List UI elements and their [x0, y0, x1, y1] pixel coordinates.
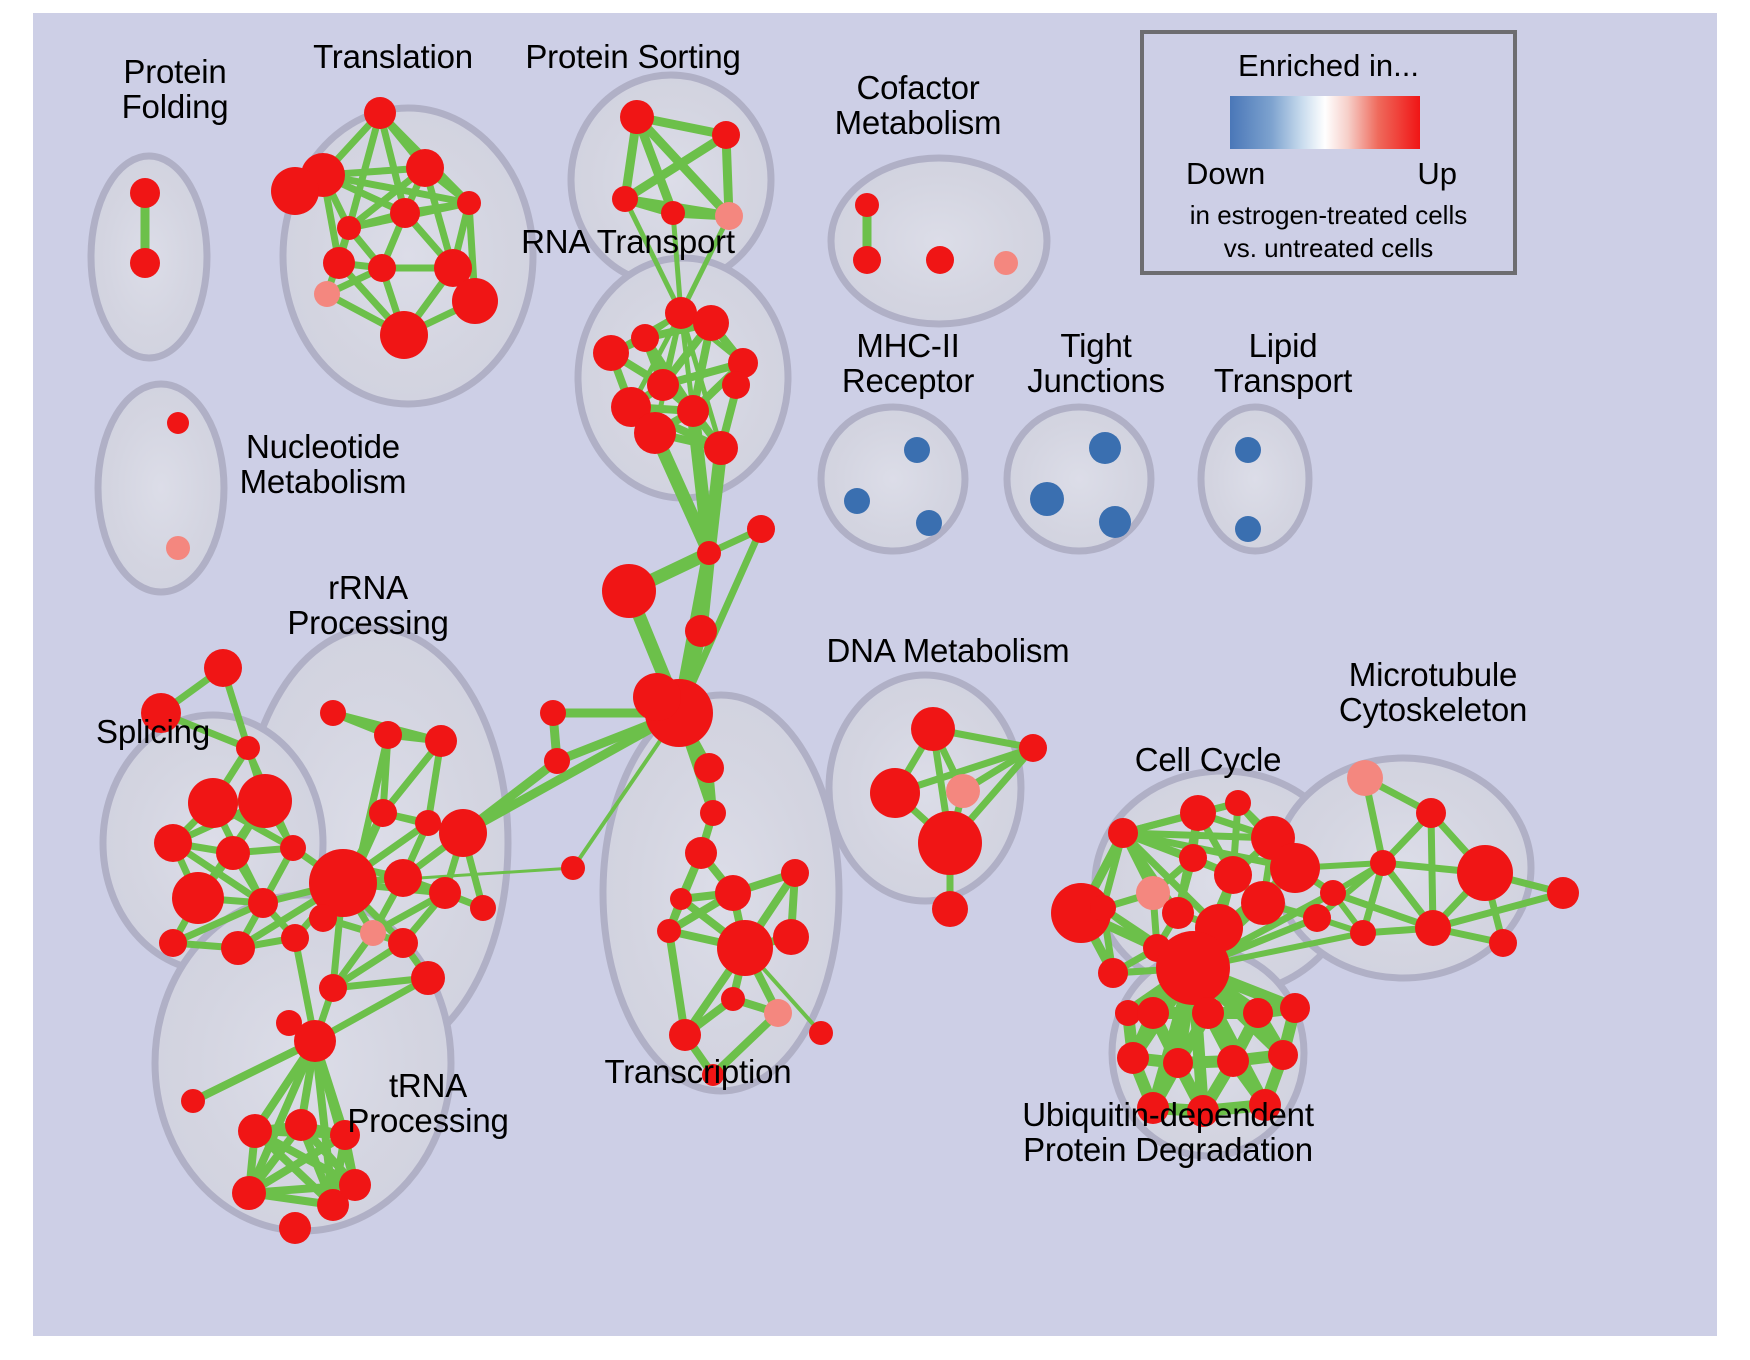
graph-node — [384, 859, 422, 897]
graph-node — [694, 753, 724, 783]
graph-node — [1156, 931, 1230, 1005]
graph-node — [1457, 845, 1513, 901]
graph-node — [309, 904, 337, 932]
graph-node — [932, 891, 968, 927]
cluster-label-microtubule-cytoskeleton: Microtubule Cytoskeleton — [1303, 658, 1563, 728]
graph-node — [374, 721, 402, 749]
cluster-shape-nucleotide — [98, 384, 224, 592]
graph-node — [281, 924, 309, 952]
graph-node — [1547, 877, 1579, 909]
graph-node — [1280, 993, 1310, 1023]
graph-node — [294, 1020, 336, 1062]
graph-node — [602, 564, 656, 618]
graph-node — [1089, 432, 1121, 464]
graph-node — [620, 100, 654, 134]
graph-node — [172, 872, 224, 924]
graph-node — [631, 324, 659, 352]
legend-caption-line2: vs. untreated cells — [1144, 233, 1513, 264]
graph-node — [647, 369, 679, 401]
graph-node — [926, 246, 954, 274]
graph-node — [159, 929, 187, 957]
graph-node — [870, 768, 920, 818]
graph-node — [665, 297, 697, 329]
graph-node — [657, 919, 681, 943]
graph-node — [130, 248, 160, 278]
graph-node — [238, 1114, 272, 1148]
graph-node — [406, 149, 444, 187]
cluster-label-ubiquitin-degradation: Ubiquitin-dependent Protein Degradation — [988, 1098, 1348, 1168]
graph-node — [911, 707, 955, 751]
legend-caption-line1: in estrogen-treated cells — [1144, 200, 1513, 231]
graph-node — [918, 811, 982, 875]
graph-node — [271, 167, 319, 215]
graph-node — [1117, 1042, 1149, 1074]
legend-high-label: Up — [1417, 156, 1457, 192]
graph-node — [1415, 910, 1451, 946]
graph-node — [470, 895, 496, 921]
graph-node — [429, 877, 461, 909]
graph-node — [188, 778, 238, 828]
cluster-label-protein-sorting: Protein Sorting — [503, 40, 763, 75]
graph-node — [722, 371, 750, 399]
graph-node — [747, 515, 775, 543]
graph-node — [1235, 516, 1261, 542]
cluster-label-lipid-transport: Lipid Transport — [1183, 329, 1383, 399]
graph-node — [661, 201, 685, 225]
graph-node — [439, 809, 487, 857]
graph-node — [1098, 958, 1128, 988]
graph-node — [154, 824, 192, 862]
graph-node — [612, 186, 638, 212]
graph-node — [319, 974, 347, 1002]
graph-node — [946, 774, 980, 808]
graph-node — [390, 198, 420, 228]
graph-node — [221, 931, 255, 965]
graph-node — [1270, 843, 1320, 893]
graph-node — [781, 859, 809, 887]
graph-node — [700, 800, 726, 826]
graph-node — [1162, 897, 1194, 929]
graph-node — [712, 121, 740, 149]
graph-node — [181, 1089, 205, 1113]
graph-node — [844, 488, 870, 514]
cluster-label-rna-transport: RNA Transport — [503, 225, 753, 260]
graph-node — [130, 178, 160, 208]
graph-node — [697, 541, 721, 565]
cluster-label-splicing: Splicing — [63, 715, 243, 750]
legend-title: Enriched in... — [1144, 48, 1513, 84]
graph-node — [380, 311, 428, 359]
graph-node — [704, 431, 738, 465]
graph-node — [853, 246, 881, 274]
graph-node — [1235, 437, 1261, 463]
cluster-label-mhc-ii-receptor: MHC-II Receptor — [808, 329, 1008, 399]
graph-node — [1217, 1045, 1249, 1077]
graph-node — [360, 920, 386, 946]
graph-node — [166, 536, 190, 560]
graph-node — [593, 335, 629, 371]
network-canvas: Protein Folding Translation Protein Sort… — [33, 13, 1717, 1336]
graph-node — [452, 278, 498, 324]
graph-node — [715, 875, 751, 911]
graph-node — [855, 193, 879, 217]
graph-node — [1137, 997, 1169, 1029]
cluster-label-trna-processing: tRNA Processing — [323, 1069, 533, 1139]
graph-node — [1303, 904, 1331, 932]
graph-node — [904, 437, 930, 463]
graph-node — [167, 412, 189, 434]
legend-low-label: Down — [1186, 156, 1265, 192]
graph-node — [323, 247, 355, 279]
graph-node — [368, 254, 396, 282]
legend-color-bar — [1230, 96, 1420, 149]
cluster-label-dna-metabolism: DNA Metabolism — [808, 634, 1088, 669]
graph-node — [1214, 856, 1252, 894]
cluster-label-transcription: Transcription — [573, 1055, 823, 1090]
graph-node — [561, 856, 585, 880]
cluster-label-translation: Translation — [273, 40, 513, 75]
graph-node — [411, 961, 445, 995]
graph-node — [425, 725, 457, 757]
graph-node — [670, 888, 692, 910]
graph-node — [1180, 795, 1216, 831]
graph-node — [693, 305, 729, 341]
graph-node — [994, 251, 1018, 275]
graph-node — [238, 774, 292, 828]
graph-node — [669, 1019, 701, 1051]
graph-node — [764, 999, 792, 1027]
graph-node — [280, 835, 306, 861]
graph-node — [1416, 798, 1446, 828]
graph-node — [1241, 881, 1285, 925]
graph-node — [415, 810, 441, 836]
graph-node — [369, 799, 397, 827]
graph-node — [1350, 920, 1376, 946]
graph-node — [232, 1176, 266, 1210]
graph-node — [721, 987, 745, 1011]
graph-node — [1019, 734, 1047, 762]
graph-node — [1179, 844, 1207, 872]
graph-node — [457, 191, 481, 215]
graph-node — [1225, 790, 1251, 816]
cluster-label-tight-junctions: Tight Junctions — [1001, 329, 1191, 399]
cluster-shape-tight — [1007, 407, 1151, 551]
graph-node — [216, 836, 250, 870]
graph-node — [314, 281, 340, 307]
graph-node — [1320, 880, 1346, 906]
cluster-label-nucleotide-metabolism: Nucleotide Metabolism — [208, 430, 438, 500]
graph-node — [685, 837, 717, 869]
graph-node — [916, 510, 942, 536]
graph-node — [279, 1212, 311, 1244]
graph-node — [544, 748, 570, 774]
graph-node — [633, 673, 681, 721]
figure-root: Protein Folding Translation Protein Sort… — [0, 0, 1750, 1360]
graph-node — [1163, 1048, 1193, 1078]
graph-node — [634, 412, 676, 454]
graph-node — [1268, 1040, 1298, 1070]
graph-node — [337, 216, 361, 240]
cluster-label-rrna-processing: rRNA Processing — [263, 571, 473, 641]
color-legend: Enriched in... Down Up in estrogen-treat… — [1140, 30, 1517, 275]
graph-node — [1489, 929, 1517, 957]
cluster-shape-mhc — [821, 407, 965, 551]
graph-node — [1370, 850, 1396, 876]
graph-node — [1108, 818, 1138, 848]
graph-node — [285, 1109, 317, 1141]
graph-node — [1099, 506, 1131, 538]
graph-node — [364, 97, 396, 129]
graph-node — [677, 395, 709, 427]
graph-node — [1347, 760, 1383, 796]
graph-node — [388, 928, 418, 958]
cluster-label-cofactor-metabolism: Cofactor Metabolism — [803, 71, 1033, 141]
graph-node — [320, 700, 346, 726]
graph-node — [773, 919, 809, 955]
graph-node — [339, 1169, 371, 1201]
graph-node — [809, 1021, 833, 1045]
graph-node — [685, 615, 717, 647]
graph-node — [248, 888, 278, 918]
graph-node — [204, 649, 242, 687]
graph-node — [1090, 895, 1116, 921]
graph-node — [1243, 998, 1273, 1028]
graph-node — [717, 920, 773, 976]
cluster-label-cell-cycle: Cell Cycle — [1098, 743, 1318, 778]
cluster-label-protein-folding: Protein Folding — [85, 55, 265, 125]
graph-node — [1030, 482, 1064, 516]
graph-node — [540, 700, 566, 726]
graph-node — [1192, 997, 1224, 1029]
